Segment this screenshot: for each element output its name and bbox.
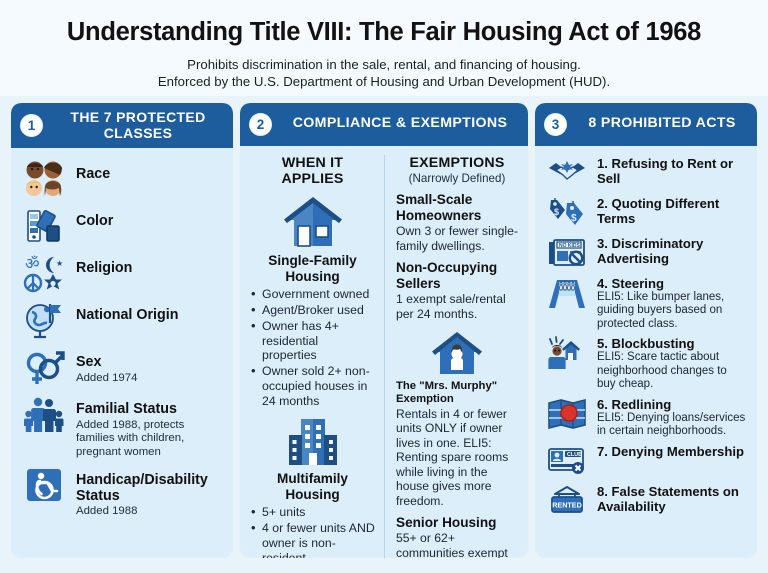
wheelchair-icon	[21, 463, 67, 507]
list-item[interactable]: 5. Blockbusting ELI5: Scare tactic about…	[545, 335, 747, 391]
act-name: 1. Refusing to Rent or Sell	[597, 156, 747, 186]
gender-symbols-icon	[21, 345, 67, 389]
class-name: Color	[76, 213, 113, 229]
card-title-3: 8 PROHIBITED ACTS	[576, 116, 748, 132]
list-item[interactable]: $ $ 2. Quoting Different Terms	[545, 195, 747, 231]
card-header-3: 3 8 PROHIBITED ACTS	[535, 103, 757, 146]
list-item-text: Sex Added 1974	[76, 345, 137, 385]
bowling-bumper-icon	[545, 275, 589, 311]
compliance-two-column: WHEN IT APPLIES Single-Family Housing	[250, 155, 518, 558]
class-note: Added 1988	[76, 505, 223, 519]
svg-text:CLUB: CLUB	[567, 452, 582, 458]
family-icon	[21, 392, 67, 436]
class-name: National Origin	[76, 307, 178, 323]
step-number-badge-2: 2	[249, 113, 272, 136]
single-family-title: Single-Family Housing	[250, 253, 375, 285]
list-item[interactable]: ॐ ★ Religion	[21, 251, 223, 295]
non-occupying-body: 1 exempt sale/rental per 24 months.	[396, 292, 518, 321]
list-item[interactable]: Sex Added 1974	[21, 345, 223, 389]
page-title: Understanding Title VIII: The Fair Housi…	[20, 18, 748, 47]
list-item-text: 4. Steering ELI5: Like bumper lanes, gui…	[597, 275, 747, 331]
list-item[interactable]: Handicap/Disability Status Added 1988	[21, 463, 223, 519]
step-number-badge-1: 1	[20, 114, 43, 137]
act-note: ELI5: Denying loans/services in certain …	[597, 412, 747, 439]
page-subtitle: Prohibits discrimination in the sale, re…	[20, 56, 748, 91]
multifamily-bullets: 5+ units 4 or fewer units AND owner is n…	[250, 505, 375, 558]
list-item: Government owned	[250, 287, 375, 302]
act-name: 2. Quoting Different Terms	[597, 196, 747, 226]
small-scale-body: Own 3 or fewer single-family dwellings.	[396, 224, 518, 253]
single-family-bullets: Government owned Agent/Broker used Owner…	[250, 287, 375, 409]
senior-housing-title: Senior Housing	[396, 515, 518, 531]
senior-housing-body: 55+ or 62+ communities exempt from Famil…	[396, 531, 518, 558]
card-header-1: 1 THE 7 PROTECTED CLASSES	[11, 103, 233, 148]
list-item[interactable]: Familial Status Added 1988, protects fam…	[21, 392, 223, 459]
class-name: Familial Status	[76, 401, 223, 417]
mrs-murphy-body: Rentals in 4 or fewer units ONLY if owne…	[396, 407, 518, 509]
list-item-text: 3. Discriminatory Advertising	[597, 235, 747, 266]
class-name: Religion	[76, 260, 132, 276]
svg-text:★: ★	[56, 259, 63, 268]
globe-flag-icon	[21, 298, 67, 342]
apartment-building-icon	[250, 417, 375, 467]
list-item-text: Race	[76, 157, 110, 182]
step-number-badge-3: 3	[544, 113, 567, 136]
list-item[interactable]: NO KIDS 3. Discriminatory Advertising	[545, 235, 747, 271]
when-it-applies-heading: WHEN IT APPLIES	[250, 155, 375, 187]
club-card-denied-icon: CLUB	[545, 443, 589, 479]
prohibited-acts-list: 1. Refusing to Rent or Sell $ $	[545, 155, 747, 519]
list-item-text: 7. Denying Membership	[597, 443, 747, 459]
act-name: 6. Redlining	[597, 397, 747, 412]
list-item: Owner has 4+ residential properties	[250, 319, 375, 364]
list-item-text: 1. Refusing to Rent or Sell	[597, 155, 747, 186]
subtitle-line-2: Enforced by the U.S. Department of Housi…	[20, 73, 748, 91]
broken-handshake-icon	[545, 155, 589, 191]
when-it-applies-section: WHEN IT APPLIES Single-Family Housing	[250, 155, 384, 558]
subtitle-line-1: Prohibits discrimination in the sale, re…	[20, 56, 748, 74]
list-item: 5+ units	[250, 505, 375, 520]
exemptions-note: (Narrowly Defined)	[396, 172, 518, 185]
act-name: 7. Denying Membership	[597, 444, 747, 459]
redlined-map-icon	[545, 396, 589, 432]
card-body-3: 1. Refusing to Rent or Sell $ $	[535, 146, 757, 558]
act-name: 3. Discriminatory Advertising	[597, 236, 747, 266]
page-header: Understanding Title VIII: The Fair Housi…	[0, 0, 768, 95]
card-body-2: WHEN IT APPLIES Single-Family Housing	[240, 146, 528, 558]
class-name: Handicap/Disability Status	[76, 472, 223, 505]
mrs-murphy-title: The "Mrs. Murphy" Exemption	[396, 380, 518, 407]
list-item-text: National Origin	[76, 298, 178, 323]
list-item-text: Color	[76, 204, 113, 229]
card-compliance-exemptions: 2 COMPLIANCE & EXEMPTIONS WHEN IT APPLIE…	[240, 103, 528, 558]
exemptions-heading: EXEMPTIONS	[396, 155, 518, 171]
svg-text:RENTED: RENTED	[552, 500, 582, 509]
act-note: ELI5: Like bumper lanes, guiding buyers …	[597, 291, 747, 331]
list-item[interactable]: 1. Refusing to Rent or Sell	[545, 155, 747, 191]
card-body-1: Race	[11, 148, 233, 558]
card-title-1: THE 7 PROTECTED CLASSES	[52, 110, 224, 141]
infographic-page: Understanding Title VIII: The Fair Housi…	[0, 0, 768, 573]
list-item: Agent/Broker used	[250, 303, 375, 318]
list-item[interactable]: Race	[21, 157, 223, 201]
multifamily-title: Multifamily Housing	[250, 471, 375, 503]
card-title-2: COMPLIANCE & EXEMPTIONS	[281, 116, 519, 132]
list-item: Owner sold 2+ non-occupied houses in 24 …	[250, 364, 375, 409]
svg-text:$: $	[571, 213, 577, 224]
protected-classes-list: Race	[21, 157, 223, 519]
act-name: 5. Blockbusting	[597, 336, 747, 351]
card-prohibited-acts: 3 8 PROHIBITED ACTS	[535, 103, 757, 558]
list-item: 4 or fewer units AND owner is non-reside…	[250, 521, 375, 558]
color-swatch-icon	[21, 204, 67, 248]
no-kids-newspaper-icon: NO KIDS	[545, 235, 589, 271]
small-scale-title: Small-Scale Homeowners	[396, 192, 518, 224]
scared-person-house-icon	[545, 335, 589, 371]
list-item-text: 6. Redlining ELI5: Denying loans/service…	[597, 396, 747, 439]
act-name: 4. Steering	[597, 276, 747, 291]
columns-container: 1 THE 7 PROTECTED CLASSES	[0, 95, 768, 568]
svg-text:ॐ: ॐ	[25, 254, 40, 273]
religion-symbols-icon: ॐ ★	[21, 251, 67, 295]
list-item-text: 5. Blockbusting ELI5: Scare tactic about…	[597, 335, 747, 391]
house-icon	[250, 195, 375, 249]
rented-sign-icon: RENTED	[545, 483, 589, 519]
list-item[interactable]: CLUB 7. Denying Membership	[545, 443, 747, 479]
list-item[interactable]: 4. Steering ELI5: Like bumper lanes, gui…	[545, 275, 747, 331]
list-item-text: 2. Quoting Different Terms	[597, 195, 747, 226]
svg-text:NO KIDS: NO KIDS	[559, 243, 581, 249]
class-note: Added 1988, protects families with child…	[76, 419, 223, 460]
house-person-icon	[396, 330, 518, 376]
class-note: Added 1974	[76, 372, 137, 386]
list-item[interactable]: National Origin	[21, 298, 223, 342]
list-item[interactable]: RENTED 8. False Statements on Availabili…	[545, 483, 747, 519]
price-tags-icon: $ $	[545, 195, 589, 231]
non-occupying-title: Non-Occupying Sellers	[396, 260, 518, 292]
exemptions-section: EXEMPTIONS (Narrowly Defined) Small-Scal…	[384, 155, 518, 558]
class-name: Race	[76, 166, 110, 182]
list-item[interactable]: 6. Redlining ELI5: Denying loans/service…	[545, 396, 747, 439]
people-faces-icon	[21, 157, 67, 201]
list-item-text: Religion	[76, 251, 132, 276]
act-note: ELI5: Scare tactic about neighborhood ch…	[597, 351, 747, 391]
list-item-text: 8. False Statements on Availability	[597, 483, 747, 514]
list-item[interactable]: Color	[21, 204, 223, 248]
card-header-2: 2 COMPLIANCE & EXEMPTIONS	[240, 103, 528, 146]
card-protected-classes: 1 THE 7 PROTECTED CLASSES	[11, 103, 233, 558]
list-item-text: Handicap/Disability Status Added 1988	[76, 463, 223, 519]
act-name: 8. False Statements on Availability	[597, 484, 747, 514]
svg-text:$: $	[554, 207, 559, 217]
list-item-text: Familial Status Added 1988, protects fam…	[76, 392, 223, 459]
class-name: Sex	[76, 354, 137, 370]
